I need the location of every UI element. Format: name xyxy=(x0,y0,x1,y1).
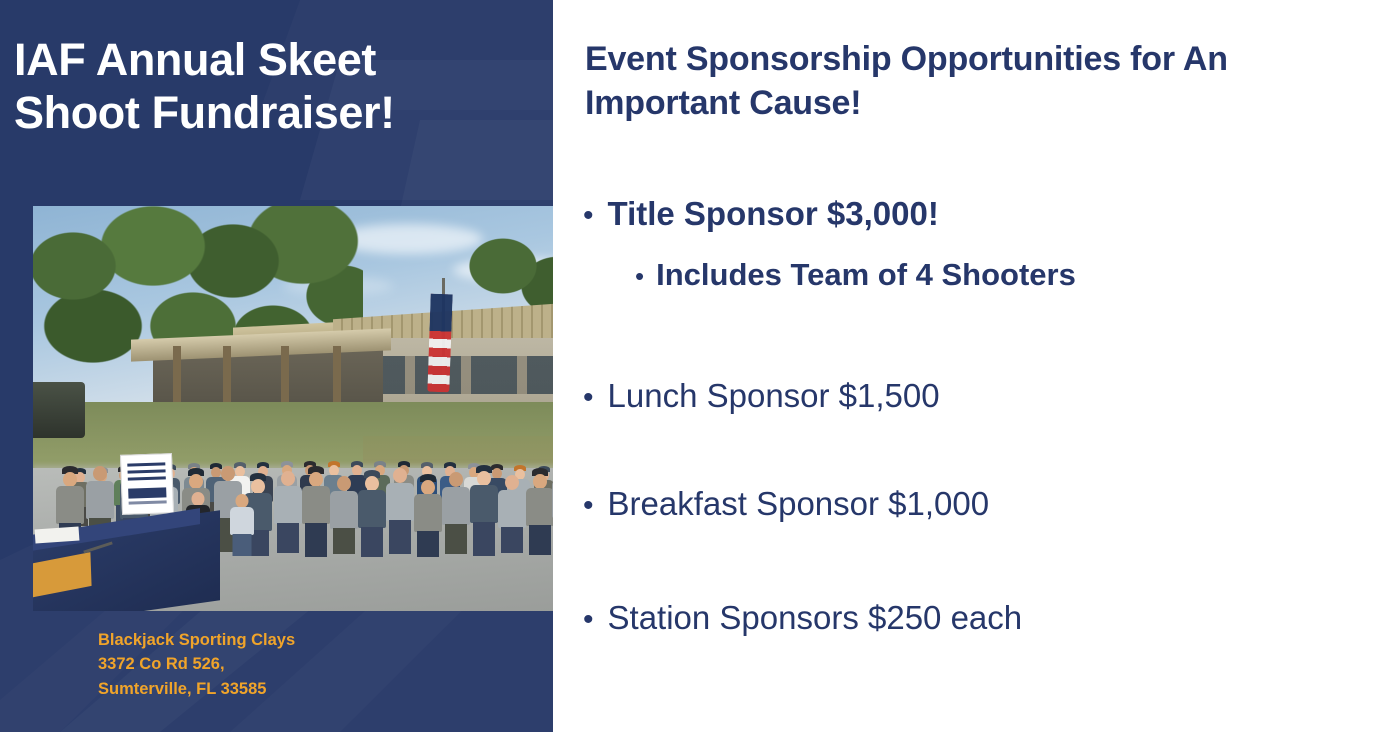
photo-person xyxy=(441,470,471,558)
sponsorship-label: Station Sponsors $250 each xyxy=(608,600,1023,636)
left-navy-panel: IAF Annual Skeet Shoot Fundraiser! xyxy=(0,0,553,732)
photo-person xyxy=(469,465,499,557)
photo-person-child xyxy=(229,494,255,556)
photo-person xyxy=(497,473,527,557)
photo-person xyxy=(301,466,331,558)
photo-sponsor-sign xyxy=(120,453,174,515)
bullet-icon: • xyxy=(583,491,594,521)
photo-person xyxy=(273,469,303,557)
bullet-icon: • xyxy=(583,605,594,635)
bullet-icon: • xyxy=(635,263,644,289)
sponsorship-label: Title Sponsor $3,000! xyxy=(608,196,939,232)
sponsorship-label: Lunch Sponsor $1,500 xyxy=(608,378,940,414)
venue-street: 3372 Co Rd 526, xyxy=(98,652,518,676)
page-title: IAF Annual Skeet Shoot Fundraiser! xyxy=(14,34,539,139)
venue-name: Blackjack Sporting Clays xyxy=(98,628,518,652)
venue-address: Blackjack Sporting Clays 3372 Co Rd 526,… xyxy=(98,628,518,701)
photo-person xyxy=(413,474,443,558)
title-line-1: IAF Annual Skeet xyxy=(14,34,539,87)
bullet-icon: • xyxy=(583,201,594,231)
title-line-2: Shoot Fundraiser! xyxy=(14,87,539,140)
sponsorship-item: •Breakfast Sponsor $1,000 xyxy=(583,486,989,522)
sponsorship-item: •Title Sponsor $3,000! xyxy=(583,196,939,232)
photo-person xyxy=(329,474,359,558)
bullet-icon: • xyxy=(583,383,594,413)
photo-vehicle xyxy=(33,382,85,438)
sponsorship-item: •Includes Team of 4 Shooters xyxy=(635,258,1076,292)
event-group-photo xyxy=(33,206,553,611)
photo-person xyxy=(385,466,415,558)
photo-person xyxy=(525,468,553,556)
sponsorship-item: •Lunch Sponsor $1,500 xyxy=(583,378,940,414)
right-content-panel: Event Sponsorship Opportunities for An I… xyxy=(553,0,1378,732)
sponsorship-headline: Event Sponsorship Opportunities for An I… xyxy=(585,38,1375,125)
sponsorship-item: •Station Sponsors $250 each xyxy=(583,600,1022,636)
venue-city-state-zip: Sumterville, FL 33585 xyxy=(98,677,518,701)
american-flag-icon xyxy=(427,294,452,393)
sponsorship-label: Breakfast Sponsor $1,000 xyxy=(608,486,990,522)
photo-person xyxy=(357,470,387,558)
sponsorship-label: Includes Team of 4 Shooters xyxy=(656,258,1076,292)
